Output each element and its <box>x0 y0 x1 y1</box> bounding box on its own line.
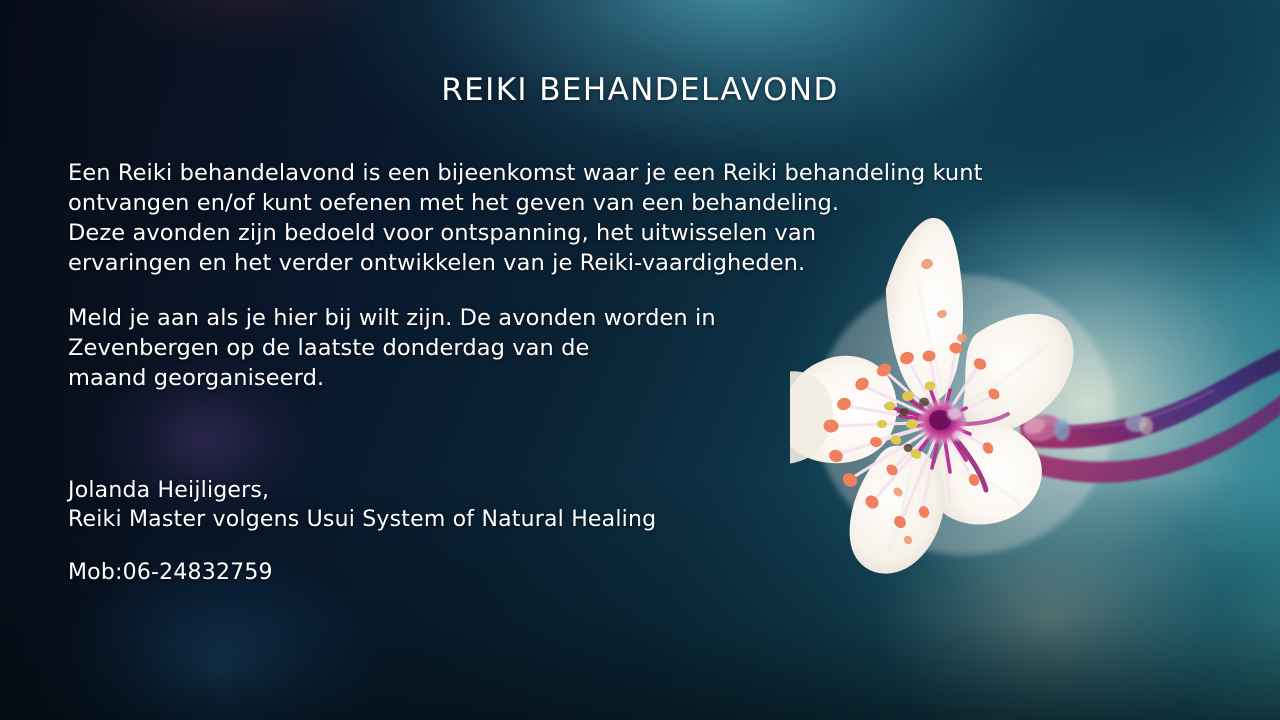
signup-line-1: Meld je aan als je hier bij wilt zijn. D… <box>68 303 716 333</box>
petal-lower-right <box>932 421 1042 524</box>
intro-line-3: Deze avonden zijn bedoeld voor ontspanni… <box>68 218 983 248</box>
petal-shading <box>888 280 1046 554</box>
paragraph-intro: Een Reiki behandelavond is een bijeenkom… <box>68 158 983 278</box>
petal-speckles <box>892 257 968 546</box>
contact-phone-block: Mob:06-24832759 <box>68 558 273 587</box>
signature-name: Jolanda Heijligers, <box>68 476 656 505</box>
blossom-center <box>918 400 966 444</box>
intro-line-4: ervaringen en het verder ontwikkelen van… <box>68 248 983 278</box>
branch-bud <box>1020 411 1153 445</box>
intro-line-1: Een Reiki behandelavond is een bijeenkom… <box>68 158 983 188</box>
signature-credential: Reiki Master volgens Usui System of Natu… <box>68 505 656 534</box>
pistil-rays <box>886 388 970 472</box>
signup-line-2: Zevenbergen op de laatste donderdag van … <box>68 333 716 363</box>
anthers <box>823 257 1002 546</box>
signup-line-3: maand georganiseerd. <box>68 363 716 393</box>
stamens <box>834 350 1008 520</box>
blossom-glow <box>815 275 1115 555</box>
intro-line-2: ontvangen en/of kunt oefenen met het gev… <box>68 188 983 218</box>
petal-left <box>790 356 897 463</box>
paragraph-signup: Meld je aan als je hier bij wilt zijn. D… <box>68 303 716 393</box>
petal-far-left <box>790 371 833 464</box>
branch <box>986 348 1280 483</box>
page-title: REIKI BEHANDELAVOND <box>0 72 1280 108</box>
signature-block: Jolanda Heijligers, Reiki Master volgens… <box>68 476 656 534</box>
petal-bottom <box>850 446 945 574</box>
petal-upper-right <box>963 314 1073 434</box>
slide-canvas: REIKI BEHANDELAVOND Een Reiki behandelav… <box>0 0 1280 720</box>
contact-phone: Mob:06-24832759 <box>68 558 273 587</box>
